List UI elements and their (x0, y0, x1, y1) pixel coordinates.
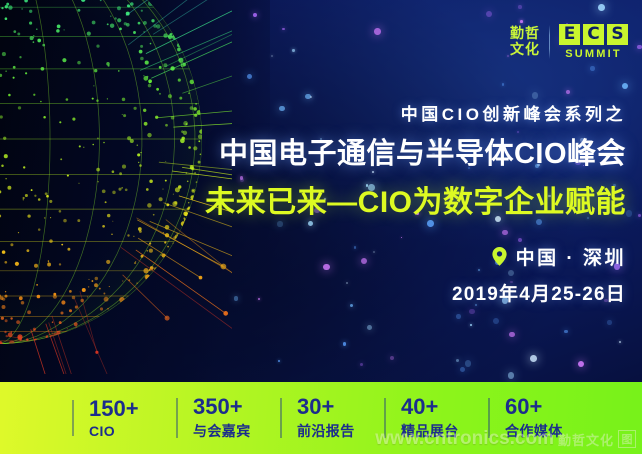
globe-node (40, 101, 42, 103)
globe-node (57, 25, 61, 29)
globe-node (59, 321, 62, 324)
globe-node (130, 2, 134, 6)
globe-node (96, 44, 99, 47)
globe-node (168, 34, 173, 39)
ecs-letter-e: E (559, 24, 580, 45)
globe-node (20, 338, 22, 340)
stat-number: 350+ (193, 395, 257, 418)
ecs-logo-subtitle: SUMMIT (565, 48, 622, 60)
globe-node (1, 317, 4, 320)
globe-node (137, 144, 138, 145)
globe-node (38, 198, 41, 201)
globe-node (104, 297, 109, 302)
globe-node (119, 172, 122, 175)
globe-node (106, 260, 110, 264)
globe-node (37, 39, 41, 43)
stat-label: 合作媒体 (505, 421, 569, 441)
partner-logo-line1: 勤哲 (510, 26, 540, 42)
globe-node (6, 3, 9, 6)
globe-node (133, 107, 136, 110)
globe-node (13, 66, 16, 69)
globe-node (112, 221, 113, 222)
globe-node (82, 288, 86, 292)
globe-node (21, 8, 22, 9)
globe-node (112, 191, 115, 194)
globe-node (140, 152, 141, 153)
globe-node (140, 45, 143, 48)
globe-node (72, 118, 75, 121)
globe-node (9, 340, 15, 346)
globe-node (64, 29, 65, 30)
globe-node (5, 295, 8, 298)
globe-node (41, 67, 45, 71)
globe-node (98, 181, 99, 182)
partner-logo-line2: 文化 (510, 42, 540, 58)
ecs-letter-s: S (607, 24, 628, 45)
globe-node (34, 329, 35, 330)
ecs-logo-letters: ECS (559, 24, 628, 45)
stat-number: 150+ (89, 397, 153, 420)
globe-node (123, 114, 126, 117)
globe-node (13, 30, 16, 33)
globe-node (13, 77, 15, 79)
globe-node (151, 19, 154, 22)
globe-node (59, 121, 61, 123)
globe-node (188, 92, 190, 94)
globe-node (146, 76, 148, 78)
globe-node (23, 166, 25, 168)
globe-node (5, 178, 6, 179)
globe-node (118, 188, 121, 191)
globe-node (79, 145, 81, 147)
globe-node (52, 321, 53, 322)
globe-node (67, 248, 70, 251)
globe-node (140, 57, 144, 61)
event-meta: 中国 · 深圳 2019年4月25-26日 (146, 243, 626, 306)
globe-node (159, 93, 161, 95)
globe-node (4, 154, 8, 158)
globe-node (19, 296, 23, 300)
globe-node (107, 214, 110, 217)
globe-node (105, 201, 107, 203)
globe-node (33, 35, 34, 36)
stat-label: 前沿报告 (297, 421, 361, 441)
globe-node (44, 217, 46, 219)
globe-node (49, 200, 52, 203)
globe-node (31, 189, 33, 191)
globe-node (2, 250, 6, 254)
globe-node (122, 114, 123, 115)
globe-node (10, 243, 13, 246)
globe-node (27, 310, 31, 314)
globe-node (121, 187, 122, 188)
ecs-letter-c: C (583, 24, 604, 45)
globe-node (178, 79, 181, 82)
stat-label: 与会嘉宾 (193, 421, 257, 441)
globe-node (26, 338, 28, 340)
globe-node (60, 311, 63, 314)
globe-node (99, 288, 101, 290)
globe-node (60, 158, 62, 160)
globe-node (103, 293, 105, 295)
globe-node (88, 279, 89, 280)
globe-ray-endpoint (223, 311, 228, 316)
stat-label: 精品展台 (401, 421, 465, 441)
conference-poster: 勤哲 文化 ECS SUMMIT 中国CIO创新峰会系列之 中国电子通信与半导体… (0, 0, 642, 454)
globe-node (134, 262, 136, 264)
ecs-logo: ECS SUMMIT (559, 24, 628, 60)
globe-node (125, 188, 128, 191)
globe-node (83, 147, 84, 148)
globe-node (96, 99, 99, 102)
partner-logo: 勤哲 文化 (510, 26, 540, 57)
globe-node (2, 305, 6, 309)
globe-node (110, 16, 111, 17)
globe-node (8, 5, 12, 9)
globe-node (77, 9, 80, 12)
globe-node (92, 144, 94, 146)
globe-node (15, 262, 19, 266)
globe-node (18, 232, 19, 233)
globe-node (69, 309, 72, 312)
globe-node (112, 170, 115, 173)
globe-node (190, 80, 195, 85)
globe-node (21, 301, 25, 305)
globe-node (138, 22, 141, 25)
globe-node (5, 71, 6, 72)
stat-label: CIO (89, 423, 153, 439)
globe-node (4, 261, 7, 264)
page-title: 中国电子通信与半导体CIO峰会 (146, 138, 626, 170)
globe-node (103, 142, 105, 144)
globe-node (133, 236, 134, 237)
globe-node (37, 295, 41, 299)
globe-node (141, 10, 143, 12)
globe-node (156, 88, 159, 91)
globe-node (43, 116, 46, 119)
globe-node (61, 300, 65, 304)
globe-node (92, 98, 94, 100)
globe-node (46, 195, 49, 198)
headline-block: 中国CIO创新峰会系列之 中国电子通信与半导体CIO峰会 未来已来—CIO为数字… (146, 100, 626, 306)
globe-node (61, 244, 63, 246)
globe-node (127, 234, 129, 236)
globe-node (163, 33, 167, 37)
globe-node (42, 44, 45, 47)
stat-number: 40+ (401, 395, 465, 418)
event-date: 2019年4月25-26日 (146, 279, 626, 306)
globe-node (33, 94, 35, 96)
globe-node (79, 183, 80, 184)
globe-node (96, 168, 100, 172)
globe-node (74, 322, 78, 326)
globe-node (49, 239, 53, 243)
globe-node (16, 320, 20, 324)
globe-node (5, 319, 8, 322)
globe-node (107, 98, 108, 99)
globe-node (137, 153, 140, 156)
globe-node (88, 286, 89, 287)
globe-node (126, 23, 130, 27)
globe-node (5, 17, 8, 20)
globe-node (100, 307, 103, 310)
globe-node (1, 165, 4, 168)
globe-node (10, 317, 12, 319)
stat-item: 40+精品展台 (384, 395, 465, 440)
globe-node (143, 21, 147, 25)
globe-node (177, 43, 182, 48)
stat-item: 350+与会嘉宾 (176, 395, 257, 440)
globe-node (46, 335, 48, 337)
globe-node (110, 23, 114, 27)
stat-number: 30+ (297, 395, 361, 418)
globe-node (143, 75, 144, 76)
globe-node (56, 29, 60, 33)
globe-node (25, 194, 28, 197)
globe-node (25, 72, 27, 74)
globe-node (107, 308, 109, 310)
globe-node (17, 32, 20, 35)
globe-node (139, 230, 142, 233)
globe-node (36, 284, 38, 286)
stat-item: 150+CIO (72, 397, 153, 438)
globe-node (139, 164, 142, 167)
globe-node (59, 210, 62, 213)
globe-node (114, 17, 116, 19)
globe-node (7, 186, 11, 190)
stats-bar: 150+CIO350+与会嘉宾30+前沿报告40+精品展台60+合作媒体 (0, 382, 642, 454)
globe-node (29, 10, 32, 13)
globe-node (5, 291, 6, 292)
globe-node (122, 165, 126, 169)
globe-node (127, 4, 130, 7)
globe-node (94, 69, 97, 72)
globe-node (27, 214, 30, 217)
globe-node (30, 36, 34, 40)
globe-node (38, 228, 41, 231)
globe-node (1, 7, 3, 9)
globe-node (122, 98, 125, 101)
globe-node (145, 61, 149, 65)
globe-node (95, 277, 98, 280)
globe-node (122, 280, 123, 281)
globe-node (77, 61, 81, 65)
globe-node (108, 65, 110, 67)
globe-node (92, 21, 96, 25)
globe-node (75, 326, 77, 328)
page-subtitle: 未来已来—CIO为数字企业赋能 (146, 186, 626, 219)
globe-node (36, 28, 38, 30)
globe-node (118, 70, 120, 72)
globe-node (67, 328, 68, 329)
eyebrow-text: 中国CIO创新峰会系列之 (146, 100, 626, 125)
stat-item: 60+合作媒体 (488, 395, 569, 440)
globe-node (5, 5, 8, 8)
globe-node (119, 297, 125, 303)
stat-item: 30+前沿报告 (280, 395, 361, 440)
globe-node (59, 263, 61, 265)
globe-node (34, 264, 38, 268)
globe-node (53, 293, 56, 296)
globe-node (102, 225, 105, 228)
globe-node (19, 56, 21, 58)
globe-node (91, 280, 93, 282)
globe-node (45, 192, 48, 195)
globe-node (66, 98, 69, 101)
globe-node (119, 28, 122, 31)
globe-node (117, 18, 121, 22)
globe-node (2, 52, 6, 56)
globe-node (148, 79, 152, 83)
globe-node (94, 283, 98, 287)
globe-node (23, 199, 24, 200)
globe-node (139, 50, 143, 54)
globe-node (22, 197, 24, 199)
globe-node (148, 1, 153, 6)
globe-node (156, 24, 160, 28)
globe-node (18, 106, 21, 109)
globe-node (117, 6, 121, 10)
globe-node (8, 94, 11, 97)
globe-node (34, 195, 36, 197)
globe-node (150, 43, 152, 45)
globe-node (77, 219, 80, 222)
globe-node (67, 175, 69, 177)
globe-node (168, 94, 172, 98)
globe-node (136, 282, 137, 283)
globe-node (62, 58, 66, 62)
map-pin-icon (492, 247, 507, 266)
globe-node (29, 22, 32, 25)
globe-node (50, 217, 51, 218)
globe-node (97, 137, 99, 139)
globe-node (69, 290, 72, 293)
globe-node (87, 296, 88, 297)
globe-node (63, 219, 67, 223)
globe-node (0, 296, 4, 300)
globe-node (127, 136, 131, 140)
globe-node (102, 189, 106, 193)
brand-logo-row: 勤哲 文化 ECS SUMMIT (510, 24, 628, 60)
globe-node (33, 41, 35, 43)
globe-node (177, 48, 181, 52)
globe-ray-endpoint (165, 316, 170, 321)
stat-number: 60+ (505, 395, 569, 418)
globe-node (148, 84, 151, 87)
logo-divider (549, 25, 550, 59)
event-location-text: 中国 · 深圳 (516, 243, 626, 270)
globe-node (87, 32, 91, 36)
event-location-row: 中国 · 深圳 (146, 243, 626, 270)
globe-node (26, 249, 29, 252)
globe-node (138, 162, 139, 163)
globe-node (159, 66, 162, 69)
globe-node (93, 85, 94, 86)
globe-node (109, 286, 110, 287)
globe-node (4, 331, 6, 333)
globe-node (133, 31, 136, 34)
globe-node (3, 137, 6, 140)
globe-node (107, 23, 109, 25)
globe-node (111, 233, 113, 235)
